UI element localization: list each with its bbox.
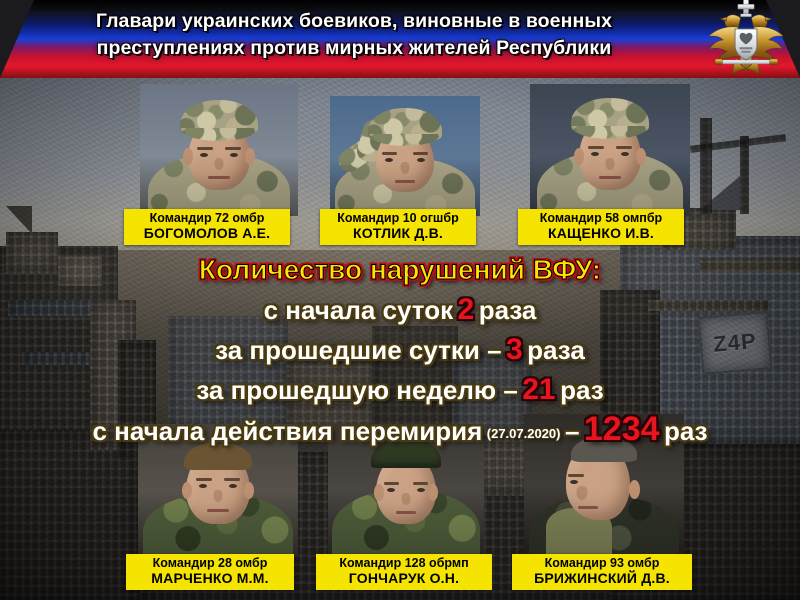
stats-line1-value: 2 bbox=[458, 293, 475, 326]
page-title: Главари украинских боевиков, виновные в … bbox=[34, 8, 674, 62]
nameplate-commander-5: Командир 128 обрмп ГОНЧАРУК О.Н. bbox=[316, 554, 492, 590]
nameplate-name: БРИЖИНСКИЙ Д.В. bbox=[520, 571, 684, 586]
nameplate-unit: Командир 93 омбр bbox=[520, 556, 684, 571]
stats-title: Количество нарушений ВФУ: bbox=[199, 254, 601, 285]
stats-line3-value: 21 bbox=[522, 373, 555, 406]
nameplate-name: БОГОМОЛОВ А.Е. bbox=[132, 226, 282, 241]
page-title-line-1: Главари украинских боевиков, виновные в … bbox=[34, 8, 674, 35]
stats-line-since-day-start: с начала суток 2 раза bbox=[0, 292, 800, 332]
stats-line4-dash: – bbox=[565, 416, 579, 446]
stats-truce-date: (27.07.2020) bbox=[487, 426, 561, 441]
stats-line1-prefix: с начала суток bbox=[264, 295, 453, 325]
page-title-line-2: преступлениях против мирных жителей Респ… bbox=[34, 35, 674, 62]
stats-line3-suffix: раз bbox=[560, 375, 604, 405]
nameplate-name: КОТЛИК Д.В. bbox=[328, 226, 468, 241]
nameplate-unit: Командир 128 обрмп bbox=[324, 556, 484, 571]
violations-stats-block: Количество нарушений ВФУ: с начала суток… bbox=[0, 252, 800, 453]
stats-line1-suffix: раза bbox=[479, 295, 537, 325]
stats-line4-prefix: с начала действия перемирия bbox=[92, 416, 482, 446]
nameplate-unit: Командир 72 омбр bbox=[132, 211, 282, 226]
nameplate-commander-3: Командир 58 омпбр КАЩЕНКО И.В. bbox=[518, 209, 684, 245]
stats-line-since-truce: с начала действия перемирия (27.07.2020)… bbox=[0, 412, 800, 453]
nameplate-commander-2: Командир 10 огшбр КОТЛИК Д.В. bbox=[320, 209, 476, 245]
stats-line3-prefix: за прошедшую неделю – bbox=[196, 375, 517, 405]
stats-title-line: Количество нарушений ВФУ: bbox=[0, 252, 800, 292]
stats-line4-value: 1234 bbox=[584, 410, 660, 448]
nameplate-commander-6: Командир 93 омбр БРИЖИНСКИЙ Д.В. bbox=[512, 554, 692, 590]
nameplate-name: КАЩЕНКО И.В. bbox=[526, 226, 676, 241]
stats-line2-suffix: раза bbox=[527, 335, 585, 365]
nameplate-name: ГОНЧАРУК О.Н. bbox=[324, 571, 484, 586]
stats-line2-value: 3 bbox=[506, 333, 523, 366]
portrait-commander-3 bbox=[530, 84, 690, 216]
portrait-commander-2 bbox=[330, 96, 480, 216]
stats-line-past-day: за прошедшие сутки – 3 раза bbox=[0, 332, 800, 372]
nameplate-name: МАРЧЕНКО М.М. bbox=[134, 571, 286, 586]
poster-root: Z4P bbox=[0, 0, 800, 600]
nameplate-commander-4: Командир 28 омбр МАРЧЕНКО М.М. bbox=[126, 554, 294, 590]
stats-line4-suffix: раз bbox=[664, 416, 708, 446]
stats-line2-prefix: за прошедшие сутки – bbox=[215, 335, 501, 365]
header-banner: Главари украинских боевиков, виновные в … bbox=[0, 0, 800, 78]
portrait-commander-1 bbox=[140, 84, 298, 216]
nameplate-unit: Командир 28 омбр bbox=[134, 556, 286, 571]
double-headed-eagle-emblem bbox=[700, 0, 792, 80]
nameplate-unit: Командир 10 огшбр bbox=[328, 211, 468, 226]
nameplate-unit: Командир 58 омпбр bbox=[526, 211, 676, 226]
stats-line-past-week: за прошедшую неделю – 21 раз bbox=[0, 372, 800, 412]
nameplate-commander-1: Командир 72 омбр БОГОМОЛОВ А.Е. bbox=[124, 209, 290, 245]
